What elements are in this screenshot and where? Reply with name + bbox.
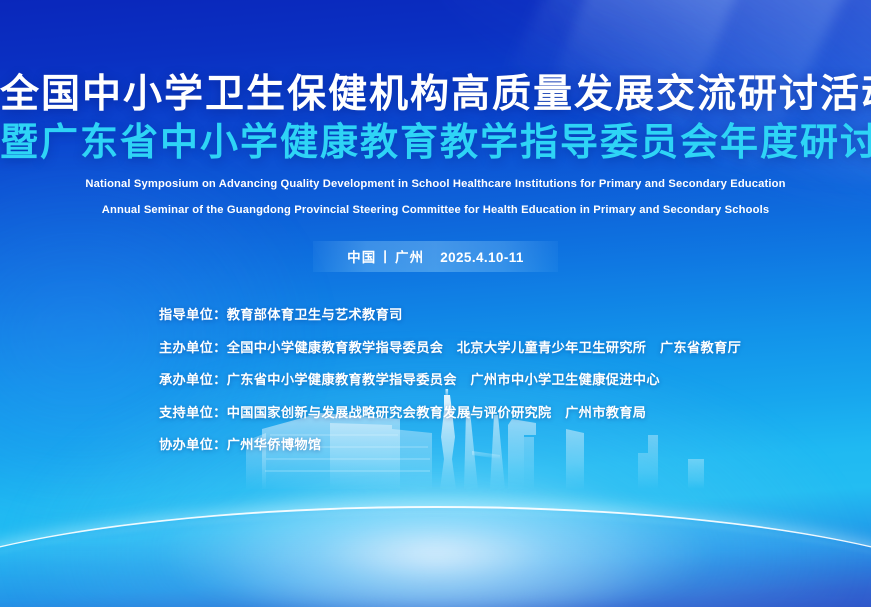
title-english-line2: Annual Seminar of the Guangdong Provinci… (0, 203, 871, 218)
badge-city: 广州 (395, 250, 424, 265)
location-date-row: 中国丨广州2025.4.10-11 (0, 241, 871, 272)
location-date-badge: 中国丨广州2025.4.10-11 (313, 241, 558, 272)
organization-row: 支持单位：中国国家创新与发展战略研究会教育发展与评价研究院 广州市教育局 (159, 404, 871, 421)
organization-label: 支持单位： (159, 405, 227, 420)
organization-label: 主办单位： (159, 340, 227, 355)
badge-country: 中国 (347, 250, 376, 265)
title-chinese-secondary: 暨广东省中小学健康教育教学指导委员会年度研讨活动 (0, 120, 871, 166)
organization-label: 承办单位： (159, 372, 227, 387)
organizations-list: 指导单位：教育部体育卫生与艺术教育司 主办单位：全国中小学健康教育教学指导委员会… (0, 306, 871, 453)
conference-poster: 全国中小学卫生保健机构高质量发展交流研讨活动 暨广东省中小学健康教育教学指导委员… (0, 0, 871, 607)
organization-value: 教育部体育卫生与艺术教育司 (227, 307, 403, 322)
organization-value: 中国国家创新与发展战略研究会教育发展与评价研究院 广州市教育局 (227, 405, 647, 420)
organization-value: 广州华侨博物馆 (227, 437, 322, 452)
title-chinese-primary: 全国中小学卫生保健机构高质量发展交流研讨活动 (0, 72, 871, 118)
organization-row: 主办单位：全国中小学健康教育教学指导委员会 北京大学儿童青少年卫生研究所 广东省… (159, 339, 871, 356)
badge-separator: 丨 (376, 250, 395, 265)
organization-value: 广东省中小学健康教育教学指导委员会 广州市中小学卫生健康促进中心 (227, 372, 660, 387)
organization-label: 指导单位： (159, 307, 227, 322)
organization-row: 指导单位：教育部体育卫生与艺术教育司 (159, 306, 871, 323)
organization-row: 承办单位：广东省中小学健康教育教学指导委员会 广州市中小学卫生健康促进中心 (159, 371, 871, 388)
title-english-line1: National Symposium on Advancing Quality … (0, 177, 871, 192)
organization-label: 协办单位： (159, 437, 227, 452)
poster-content: 全国中小学卫生保健机构高质量发展交流研讨活动 暨广东省中小学健康教育教学指导委员… (0, 0, 871, 607)
organization-value: 全国中小学健康教育教学指导委员会 北京大学儿童青少年卫生研究所 广东省教育厅 (227, 340, 741, 355)
organization-row: 协办单位：广州华侨博物馆 (159, 436, 871, 453)
badge-date: 2025.4.10-11 (440, 250, 524, 265)
title-block: 全国中小学卫生保健机构高质量发展交流研讨活动 暨广东省中小学健康教育教学指导委员… (0, 0, 871, 218)
